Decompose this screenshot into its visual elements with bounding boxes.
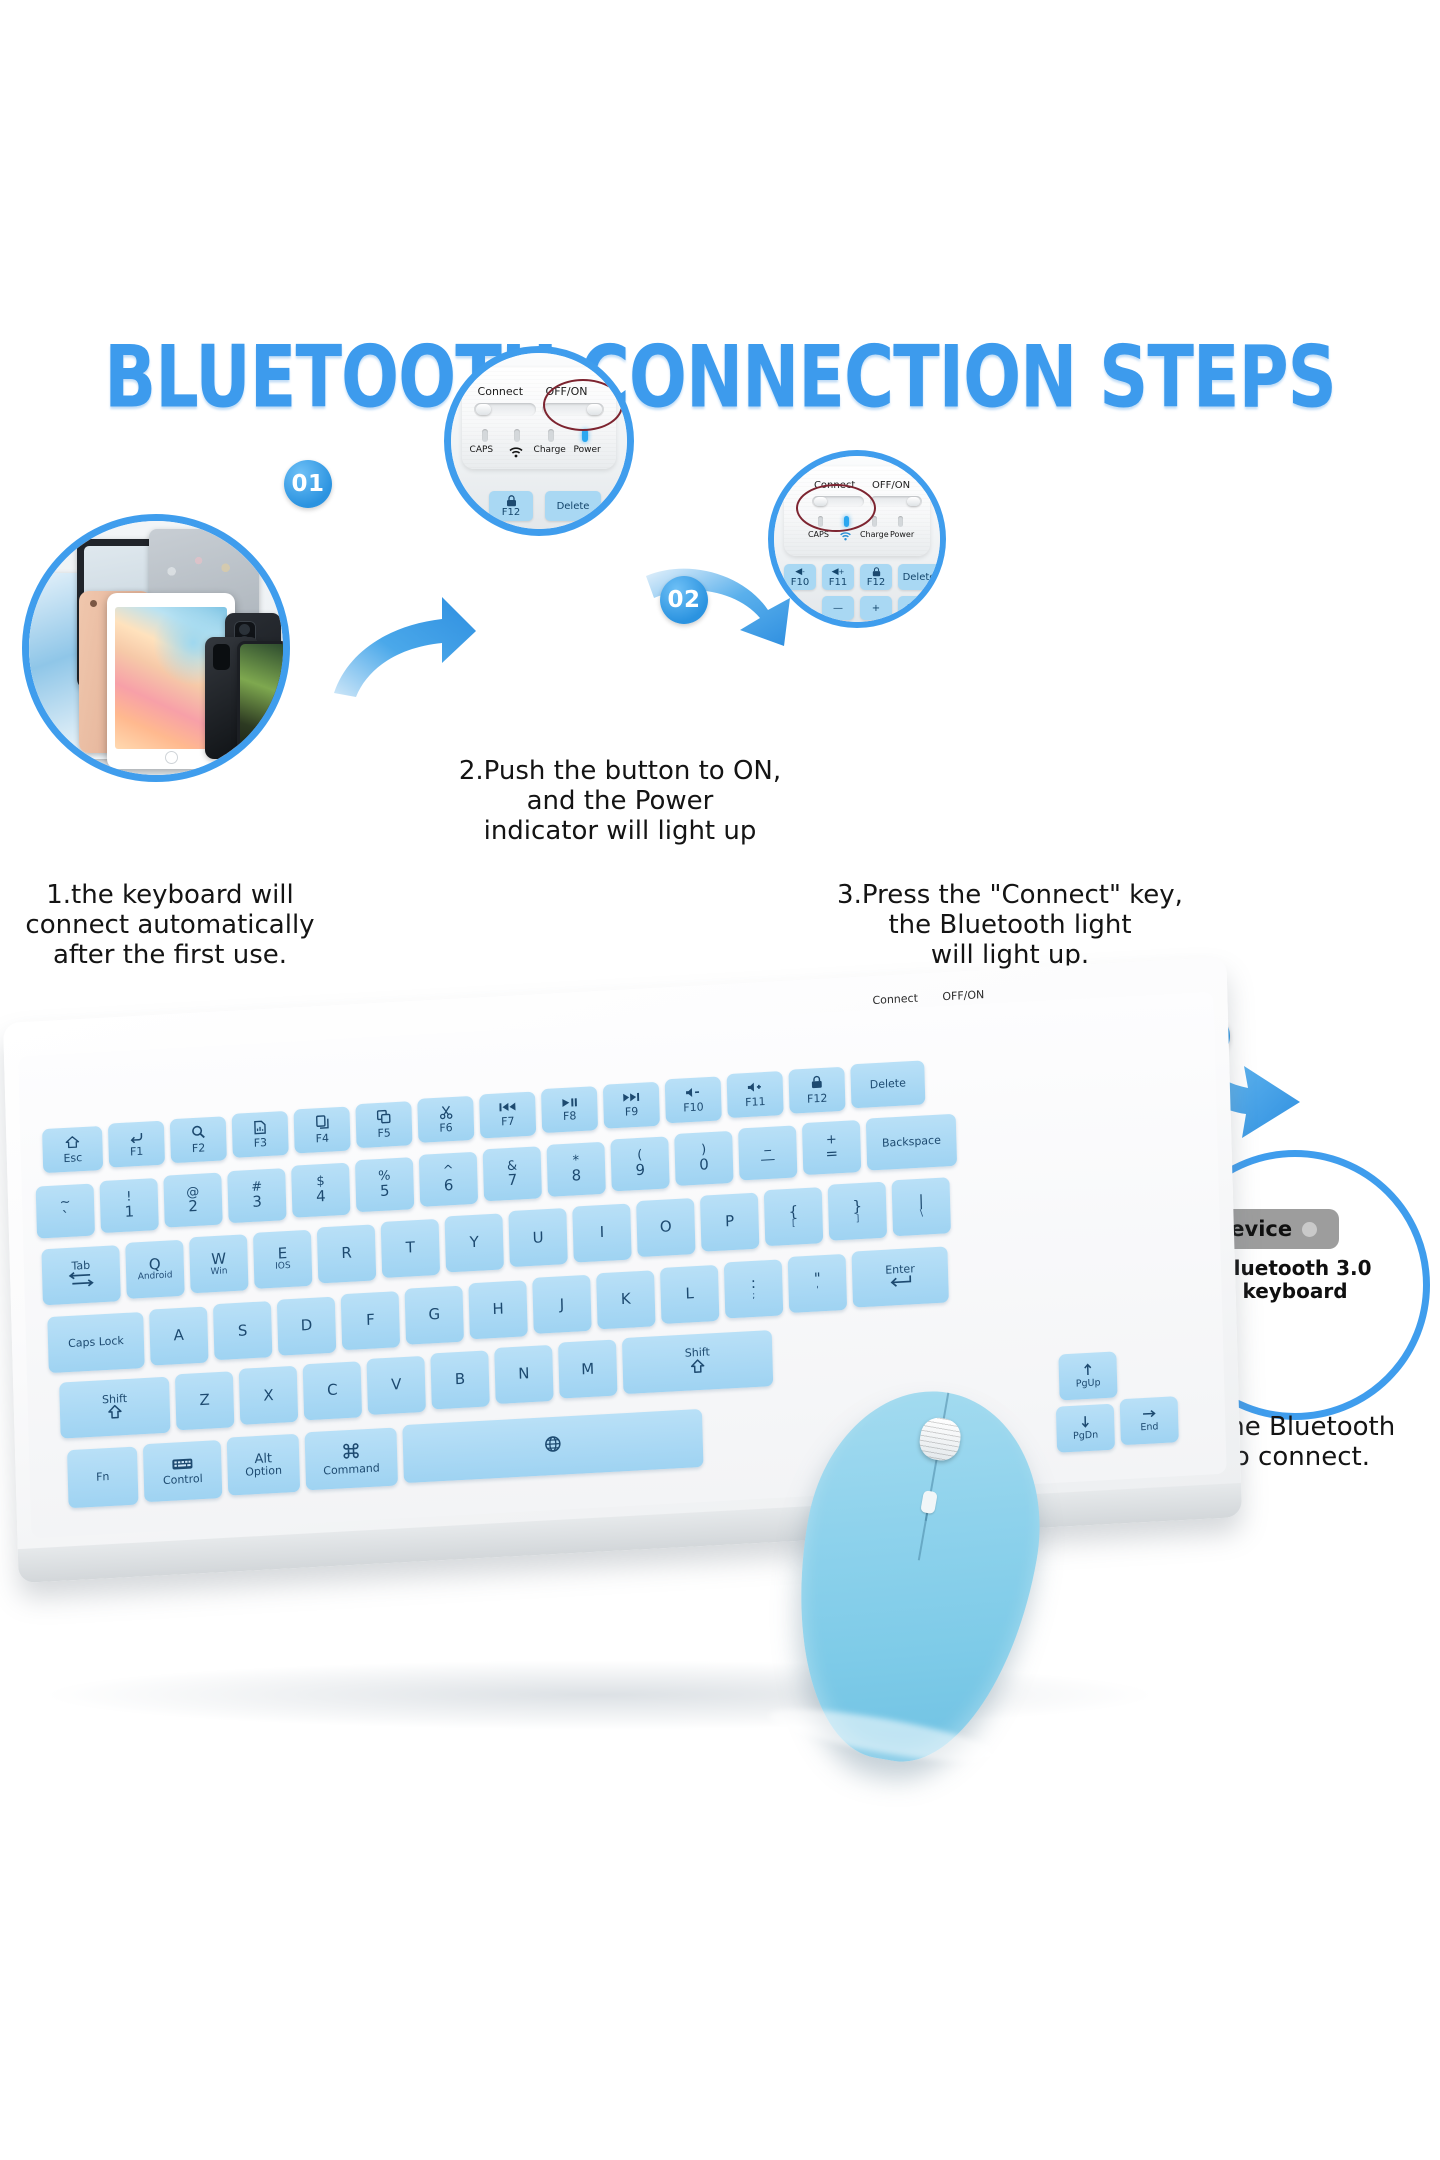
key-shift-3[interactable]: C — [303, 1361, 362, 1420]
document-icon — [254, 1120, 266, 1138]
shift-arrow-icon — [690, 1358, 704, 1376]
minus-key-label: — — [833, 603, 843, 614]
key-command[interactable]: Command — [305, 1427, 398, 1490]
home-icon — [65, 1135, 79, 1152]
off-on-label-3: OFF/ON — [872, 480, 910, 491]
f12-key-label-3: F12 — [867, 577, 885, 588]
f11-key-label: F11 — [829, 577, 847, 588]
charge-led — [548, 429, 554, 442]
key-key[interactable]: :; — [724, 1259, 783, 1318]
plus-key-3[interactable]: + — [860, 596, 892, 620]
key-enter[interactable]: Enter — [852, 1247, 949, 1308]
power-led-label: Power — [574, 445, 601, 455]
search-icon — [191, 1125, 205, 1143]
key-f12[interactable]: F12 — [788, 1067, 845, 1114]
step-2-badge: 02 — [660, 576, 708, 624]
f12-key-label: F12 — [502, 507, 520, 518]
step-1-caption: 1.the keyboard will connect automaticall… — [0, 880, 340, 970]
power-led-label-3: Power — [890, 530, 914, 539]
f12-key-3[interactable]: F12 — [860, 564, 892, 590]
key-shift-4[interactable]: V — [366, 1356, 425, 1415]
key-f7[interactable]: F7 — [479, 1091, 536, 1138]
caps-led-label: CAPS — [470, 445, 494, 455]
key-backspace[interactable]: Backspace — [866, 1113, 957, 1170]
f11-key-3[interactable]: ◀+ F11 — [822, 564, 854, 590]
key-caps-lock[interactable]: Caps Lock — [47, 1312, 144, 1373]
down-arrow-icon — [1080, 1415, 1090, 1432]
enter-arrow-icon — [889, 1275, 911, 1292]
key-e[interactable]: EIOS — [253, 1229, 312, 1288]
key-4[interactable]: $4 — [291, 1162, 350, 1217]
key-l[interactable]: L — [660, 1265, 719, 1324]
key-f8[interactable]: F8 — [541, 1086, 598, 1133]
lock-icon — [811, 1075, 823, 1093]
wifi-icon-3 — [839, 531, 852, 541]
key-6[interactable]: ^6 — [419, 1152, 478, 1207]
copy-icon — [315, 1115, 328, 1133]
key-fn[interactable]: Fn — [67, 1447, 139, 1509]
key-a[interactable]: A — [149, 1307, 208, 1366]
wifi-icon — [508, 446, 524, 458]
key-key[interactable]: |\ — [891, 1177, 950, 1236]
key-3[interactable]: #3 — [227, 1168, 286, 1223]
key-f10[interactable]: F10 — [665, 1076, 722, 1123]
key-key[interactable]: }] — [828, 1182, 887, 1241]
mouse-scroll-wheel[interactable] — [917, 1415, 964, 1463]
key-f3[interactable]: F3 — [232, 1111, 289, 1158]
key-delete[interactable]: Delete — [850, 1061, 925, 1109]
key-f11[interactable]: F11 — [727, 1071, 784, 1118]
key-i[interactable]: I — [572, 1203, 631, 1262]
key-key[interactable]: _— — [738, 1126, 797, 1181]
step-2-switch-circle: Connect OFF/ON CAPS Charge Power F12 Del… — [444, 346, 634, 536]
step-1-badge: 01 — [284, 460, 332, 508]
key-end[interactable]: End — [1120, 1396, 1179, 1445]
key-2[interactable]: @2 — [163, 1173, 222, 1228]
connect-switch[interactable] — [474, 403, 536, 416]
key-pgup[interactable]: PgUp — [1058, 1351, 1117, 1400]
key-r[interactable]: R — [317, 1224, 376, 1283]
page-title: BLUETOOTH CONNECTION STEPS — [0, 327, 1440, 427]
key-o[interactable]: O — [636, 1198, 695, 1257]
key-shift-8[interactable]: Shift — [622, 1330, 773, 1394]
key-f[interactable]: F — [341, 1291, 400, 1350]
key-f4[interactable]: F4 — [293, 1106, 350, 1153]
key-1[interactable]: !1 — [99, 1178, 158, 1233]
key-g[interactable]: G — [405, 1286, 464, 1345]
key-control[interactable]: Control — [143, 1440, 223, 1502]
key-shift-7[interactable]: M — [558, 1340, 617, 1399]
key-tab[interactable]: Tab — [41, 1245, 120, 1305]
step-3-caption: 3.Press the "Connect" key, the Bluetooth… — [700, 880, 1320, 970]
key-f5[interactable]: F5 — [355, 1101, 412, 1148]
key-f6[interactable]: F6 — [417, 1096, 474, 1143]
caps-led — [482, 429, 488, 442]
key-shift-5[interactable]: B — [430, 1350, 489, 1409]
key-option[interactable]: AltOption — [227, 1434, 301, 1496]
connect-highlight-ellipse — [796, 484, 876, 532]
key-t[interactable]: T — [381, 1219, 440, 1278]
charge-led-3 — [872, 516, 877, 527]
key-9[interactable]: (9 — [610, 1136, 669, 1191]
key-p[interactable]: P — [700, 1193, 759, 1252]
key-w[interactable]: WWin — [189, 1235, 248, 1294]
key-y[interactable]: Y — [445, 1214, 504, 1273]
device-status-dot — [1302, 1222, 1317, 1237]
paste-icon — [377, 1110, 391, 1128]
lock-icon — [506, 495, 517, 507]
key-shift-6[interactable]: N — [494, 1345, 553, 1404]
key-h[interactable]: H — [468, 1280, 527, 1339]
step-3-connect-circle: Connect OFF/ON CAPS Charge Power ◀- F10 … — [768, 450, 946, 628]
f10-key-label: F10 — [791, 577, 809, 588]
globe-icon — [544, 1435, 563, 1458]
minus-key-3[interactable]: — — [822, 596, 854, 620]
key-0[interactable]: )0 — [674, 1131, 733, 1186]
key-j[interactable]: J — [532, 1275, 591, 1334]
power-led-3 — [898, 516, 903, 527]
f10-key-3[interactable]: ◀- F10 — [784, 564, 816, 590]
shift-arrow-icon — [108, 1404, 122, 1422]
key-u[interactable]: U — [508, 1208, 567, 1267]
key-key[interactable]: += — [802, 1120, 861, 1175]
back-key-label: Back — [907, 603, 931, 614]
key-5[interactable]: %5 — [355, 1157, 414, 1212]
key-f1[interactable]: F1 — [108, 1121, 165, 1168]
charge-led-label-3: Charge — [860, 530, 889, 539]
phone-screen-image — [237, 641, 289, 757]
key-7[interactable]: &7 — [483, 1147, 542, 1202]
charge-led-label: Charge — [534, 445, 566, 455]
connect-label: Connect — [478, 385, 523, 398]
keyboard: Connect OFF/ON CAPS Charge Power EscF1F2… — [0, 980, 1260, 1700]
key-shift-2[interactable]: X — [239, 1366, 298, 1425]
delete-key-label: Delete — [557, 501, 590, 512]
f12-key[interactable]: F12 — [489, 491, 533, 521]
step-2-caption: 2.Push the button to ON, and the Power i… — [370, 756, 870, 846]
bluetooth-led — [514, 429, 520, 442]
key-shift-1[interactable]: Z — [175, 1371, 234, 1430]
key-k[interactable]: K — [596, 1270, 655, 1329]
key-esc[interactable]: Esc — [42, 1126, 103, 1173]
key-8[interactable]: *8 — [546, 1141, 605, 1196]
key-q[interactable]: QAndroid — [125, 1240, 184, 1299]
step-1-arrow-icon — [330, 585, 480, 705]
key-key[interactable]: {[ — [764, 1187, 823, 1246]
key-s[interactable]: S — [213, 1301, 272, 1360]
delete-key-3[interactable]: Delete — [898, 564, 940, 590]
tab-arrows-icon — [68, 1271, 95, 1292]
back-key-3[interactable]: Back — [898, 596, 940, 620]
power-switch-3[interactable] — [870, 496, 922, 507]
key-shift-0[interactable]: Shift — [59, 1377, 170, 1439]
delete-key[interactable]: Delete — [545, 491, 601, 521]
key-key[interactable]: ~` — [36, 1183, 95, 1238]
plus-key-label: + — [872, 603, 880, 614]
step-1-device-photo-circle — [22, 514, 290, 782]
key-key[interactable] — [402, 1409, 703, 1483]
key-f2[interactable]: F2 — [170, 1116, 227, 1163]
up-arrow-icon — [1083, 1362, 1093, 1379]
key-key[interactable]: "' — [788, 1254, 847, 1313]
power-led — [582, 429, 588, 442]
scissors-icon — [439, 1105, 452, 1123]
delete-key-label-3: Delete — [903, 572, 936, 583]
key-f9[interactable]: F9 — [603, 1081, 660, 1128]
lock-icon-3 — [872, 567, 881, 577]
off-on-highlight-ellipse — [543, 379, 623, 431]
key-d[interactable]: D — [277, 1296, 336, 1355]
command-icon — [342, 1441, 361, 1464]
key-pgdn[interactable]: PgDn — [1056, 1404, 1115, 1453]
